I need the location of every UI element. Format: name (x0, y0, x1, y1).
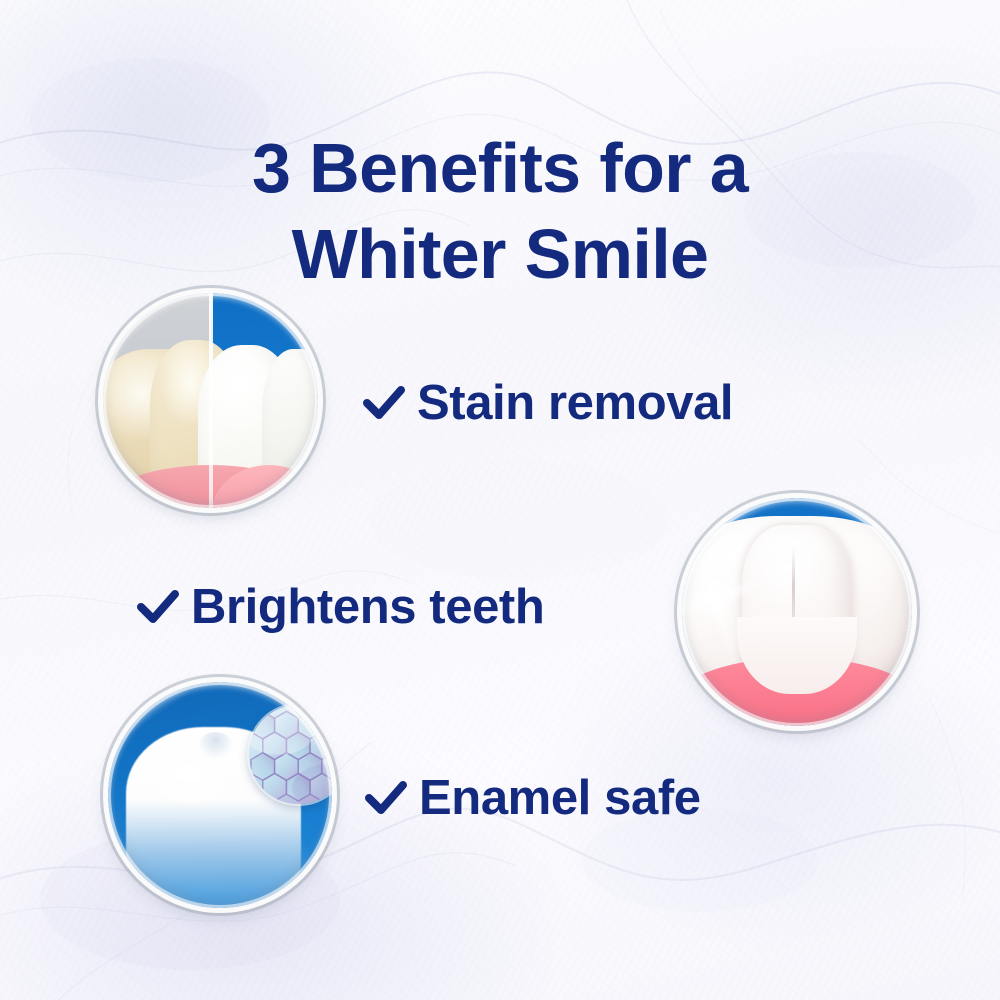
page-title: 3 Benefits for a Whiter Smile (0, 125, 1000, 297)
benefits-poster: 3 Benefits for a Whiter Smile Split befo… (0, 0, 1000, 1000)
check-icon (365, 777, 407, 819)
check-icon (137, 586, 179, 628)
before-after-teeth-illustration: Split before-and-after circle: stained y… (103, 293, 318, 508)
benefit-label-brightens-teeth: Brightens teeth (191, 581, 544, 633)
tooth-cusp-dimple (198, 732, 234, 759)
benefit-label-enamel-safe: Enamel safe (419, 772, 701, 824)
check-icon (363, 382, 405, 424)
enamel-hexagon-illustration: Circle showing a white tooth on a blue b… (108, 682, 332, 908)
bright-teeth-sparkle-illustration: Circle showing bright white molars with … (682, 498, 912, 726)
benefit-label-stain-removal: Stain removal (417, 377, 733, 429)
split-divider (209, 293, 213, 508)
